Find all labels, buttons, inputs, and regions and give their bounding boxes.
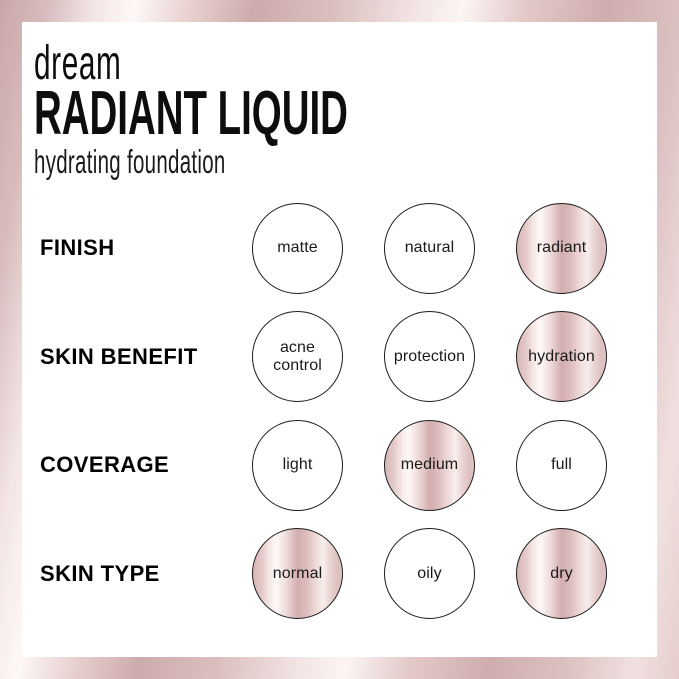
option-label: dry — [550, 565, 573, 583]
option-circle-acne-control[interactable]: acne control — [252, 311, 343, 402]
attribute-row: SKIN TYPEnormaloilydry — [22, 520, 657, 629]
product-header: dream RADIANT LIQUID hydrating foundatio… — [34, 44, 540, 178]
attribute-label-skin-type: SKIN TYPE — [40, 520, 160, 629]
product-info-card: dream RADIANT LIQUID hydrating foundatio… — [0, 0, 679, 679]
option-circle-light[interactable]: light — [252, 420, 343, 511]
option-circle-hydration[interactable]: hydration — [516, 311, 607, 402]
attribute-label-finish: FINISH — [40, 194, 115, 303]
option-label: hydration — [528, 348, 595, 366]
brand-line: dream — [34, 44, 348, 84]
option-circle-radiant[interactable]: radiant — [516, 203, 607, 294]
option-circle-natural[interactable]: natural — [384, 203, 475, 294]
attribute-grid: FINISHmattenaturalradiantSKIN BENEFITacn… — [22, 194, 657, 628]
option-label: protection — [394, 348, 465, 366]
option-label: medium — [401, 456, 459, 474]
card-content-area: dream RADIANT LIQUID hydrating foundatio… — [22, 22, 657, 657]
option-circle-dry[interactable]: dry — [516, 528, 607, 619]
option-circle-full[interactable]: full — [516, 420, 607, 511]
option-circle-medium[interactable]: medium — [384, 420, 475, 511]
page-title: RADIANT LIQUID — [34, 86, 348, 142]
option-label: oily — [417, 565, 441, 583]
option-label: natural — [405, 239, 455, 257]
attribute-label-coverage: COVERAGE — [40, 411, 169, 520]
option-label: matte — [277, 239, 318, 257]
option-label: light — [283, 456, 313, 474]
attribute-row: FINISHmattenaturalradiant — [22, 194, 657, 303]
option-circle-oily[interactable]: oily — [384, 528, 475, 619]
option-circle-protection[interactable]: protection — [384, 311, 475, 402]
attribute-row: SKIN BENEFITacne controlprotectionhydrat… — [22, 303, 657, 412]
attribute-row: COVERAGElightmediumfull — [22, 411, 657, 520]
option-circle-matte[interactable]: matte — [252, 203, 343, 294]
option-label: normal — [273, 565, 323, 583]
option-label: acne control — [273, 339, 322, 375]
option-circle-normal[interactable]: normal — [252, 528, 343, 619]
product-subtitle: hydrating foundation — [34, 146, 348, 178]
attribute-label-skin-benefit: SKIN BENEFIT — [40, 303, 198, 412]
option-label: radiant — [537, 239, 587, 257]
option-label: full — [551, 456, 572, 474]
